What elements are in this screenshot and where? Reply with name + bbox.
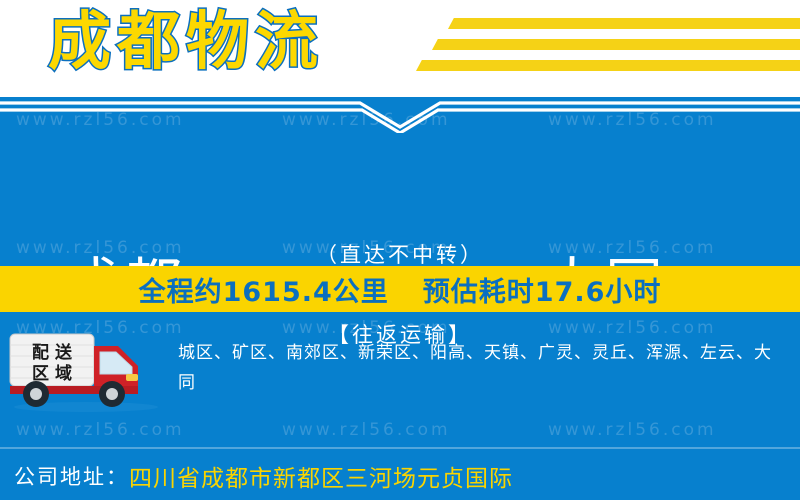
truck-badge-line-1: 配 送 <box>32 342 73 363</box>
page-title: 成都物流 <box>48 3 324 82</box>
company-address-footer: 公司地址： 四川省成都市新都区三河场元贞国际 <box>0 452 800 500</box>
truck-badge-line-2: 区 域 <box>32 363 72 384</box>
delivery-area-list: 城区、矿区、南郊区、新荣区、阳高、天镇、广灵、灵丘、浑源、左云、大同 <box>178 339 778 399</box>
route-stats-band: 全程约1615.4公里 预估耗时17.6小时 <box>0 266 800 312</box>
stripe-1 <box>448 18 800 29</box>
stripe-3 <box>416 60 800 71</box>
footer-divider <box>0 447 800 449</box>
duration-text: 预估耗时17.6小时 <box>423 270 662 309</box>
distance-text: 全程约1615.4公里 <box>139 270 389 309</box>
stripe-2 <box>432 39 800 50</box>
poster-header: 成都物流 <box>0 0 800 97</box>
delivery-area-section: 配 送 区 域 城区、矿区、南郊区、新荣区、阳高、天镇、广灵、灵丘、浑源、左云、… <box>0 312 800 437</box>
delivery-truck-icon: 配 送 区 域 <box>6 328 166 414</box>
address-value: 四川省成都市新都区三河场元贞国际 <box>129 459 513 493</box>
double-chevron-down-icon <box>0 97 800 133</box>
logistics-poster: www.rzl56.com www.rzl56.com www.rzl56.co… <box>0 0 800 500</box>
decorative-stripes <box>370 18 800 80</box>
route-section: 成都 大同 （直达不中转） 【往返运输】 <box>0 97 800 266</box>
address-label: 公司地址： <box>14 461 129 491</box>
direct-route-note: （直达不中转） <box>0 239 800 269</box>
